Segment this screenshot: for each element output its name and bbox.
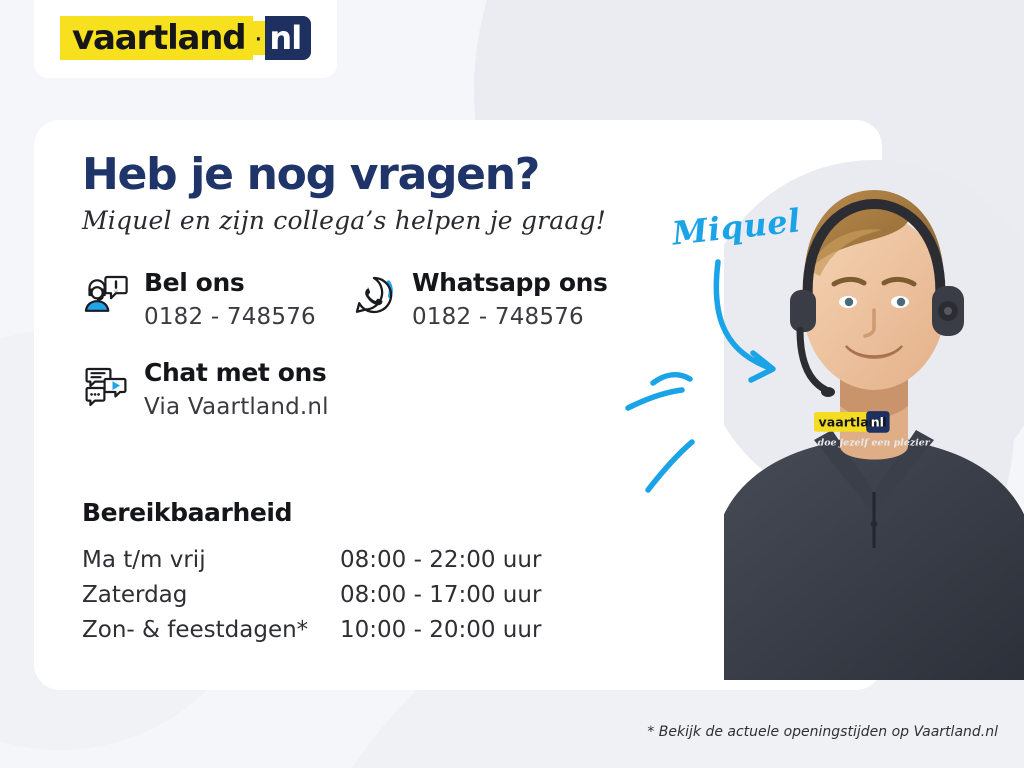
contact-whatsapp-number[interactable]: 0182 - 748576 xyxy=(412,304,608,330)
logo-separator-dot: · xyxy=(253,21,265,55)
logo-wordmark: vaartland xyxy=(60,16,253,60)
availability-time: 10:00 - 20:00 uur xyxy=(340,613,602,648)
contact-call-title: Bel ons xyxy=(144,268,244,297)
contact-method-call[interactable]: Bel ons 0182 - 748576 xyxy=(82,269,316,330)
contact-method-chat[interactable]: Chat met ons Via Vaartland.nl xyxy=(82,359,329,420)
contact-method-whatsapp[interactable]: Whatsapp ons 0182 - 748576 xyxy=(350,269,608,330)
availability-title: Bereikbaarheid xyxy=(82,498,602,527)
availability-section: Bereikbaarheid Ma t/m vrij 08:00 - 22:00… xyxy=(82,498,602,648)
polo-tagline: doe jezelf een plezier xyxy=(818,437,931,448)
availability-time: 08:00 - 22:00 uur xyxy=(340,543,602,578)
availability-day: Zon- & feestdagen* xyxy=(82,613,340,648)
contact-call-number[interactable]: 0182 - 748576 xyxy=(144,304,316,330)
contact-call-text: Bel ons 0182 - 748576 xyxy=(144,269,316,330)
availability-row: Zaterdag 08:00 - 17:00 uur xyxy=(82,578,602,613)
brand-logo[interactable]: vaartland · nl xyxy=(34,0,337,78)
logo-tld: nl xyxy=(265,16,311,60)
page-subtitle: Miquel en zijn collega’s helpen je graag… xyxy=(82,206,642,235)
contact-chat-title: Chat met ons xyxy=(144,358,326,387)
availability-time: 08:00 - 17:00 uur xyxy=(340,578,602,613)
page-title: Heb je nog vragen? xyxy=(82,152,642,198)
contact-chat-detail[interactable]: Via Vaartland.nl xyxy=(144,394,329,420)
contact-whatsapp-title: Whatsapp ons xyxy=(412,268,608,297)
contact-whatsapp-text: Whatsapp ons 0182 - 748576 xyxy=(412,269,608,330)
whatsapp-icon xyxy=(350,271,398,319)
availability-day: Zaterdag xyxy=(82,578,340,613)
logo-lockup: vaartland · nl xyxy=(60,16,311,60)
availability-row: Zon- & feestdagen* 10:00 - 20:00 uur xyxy=(82,613,602,648)
chat-bubbles-icon xyxy=(82,361,130,409)
contact-chat-text: Chat met ons Via Vaartland.nl xyxy=(144,359,329,420)
polo-logo-tld: nl xyxy=(871,414,884,429)
availability-day: Ma t/m vrij xyxy=(82,543,340,578)
card-header: Heb je nog vragen? Miquel en zijn colleg… xyxy=(82,152,642,269)
headset-person-icon xyxy=(82,271,130,319)
footnote: * Bekijk de actuele openingstijden op Va… xyxy=(647,724,998,740)
availability-row: Ma t/m vrij 08:00 - 22:00 uur xyxy=(82,543,602,578)
